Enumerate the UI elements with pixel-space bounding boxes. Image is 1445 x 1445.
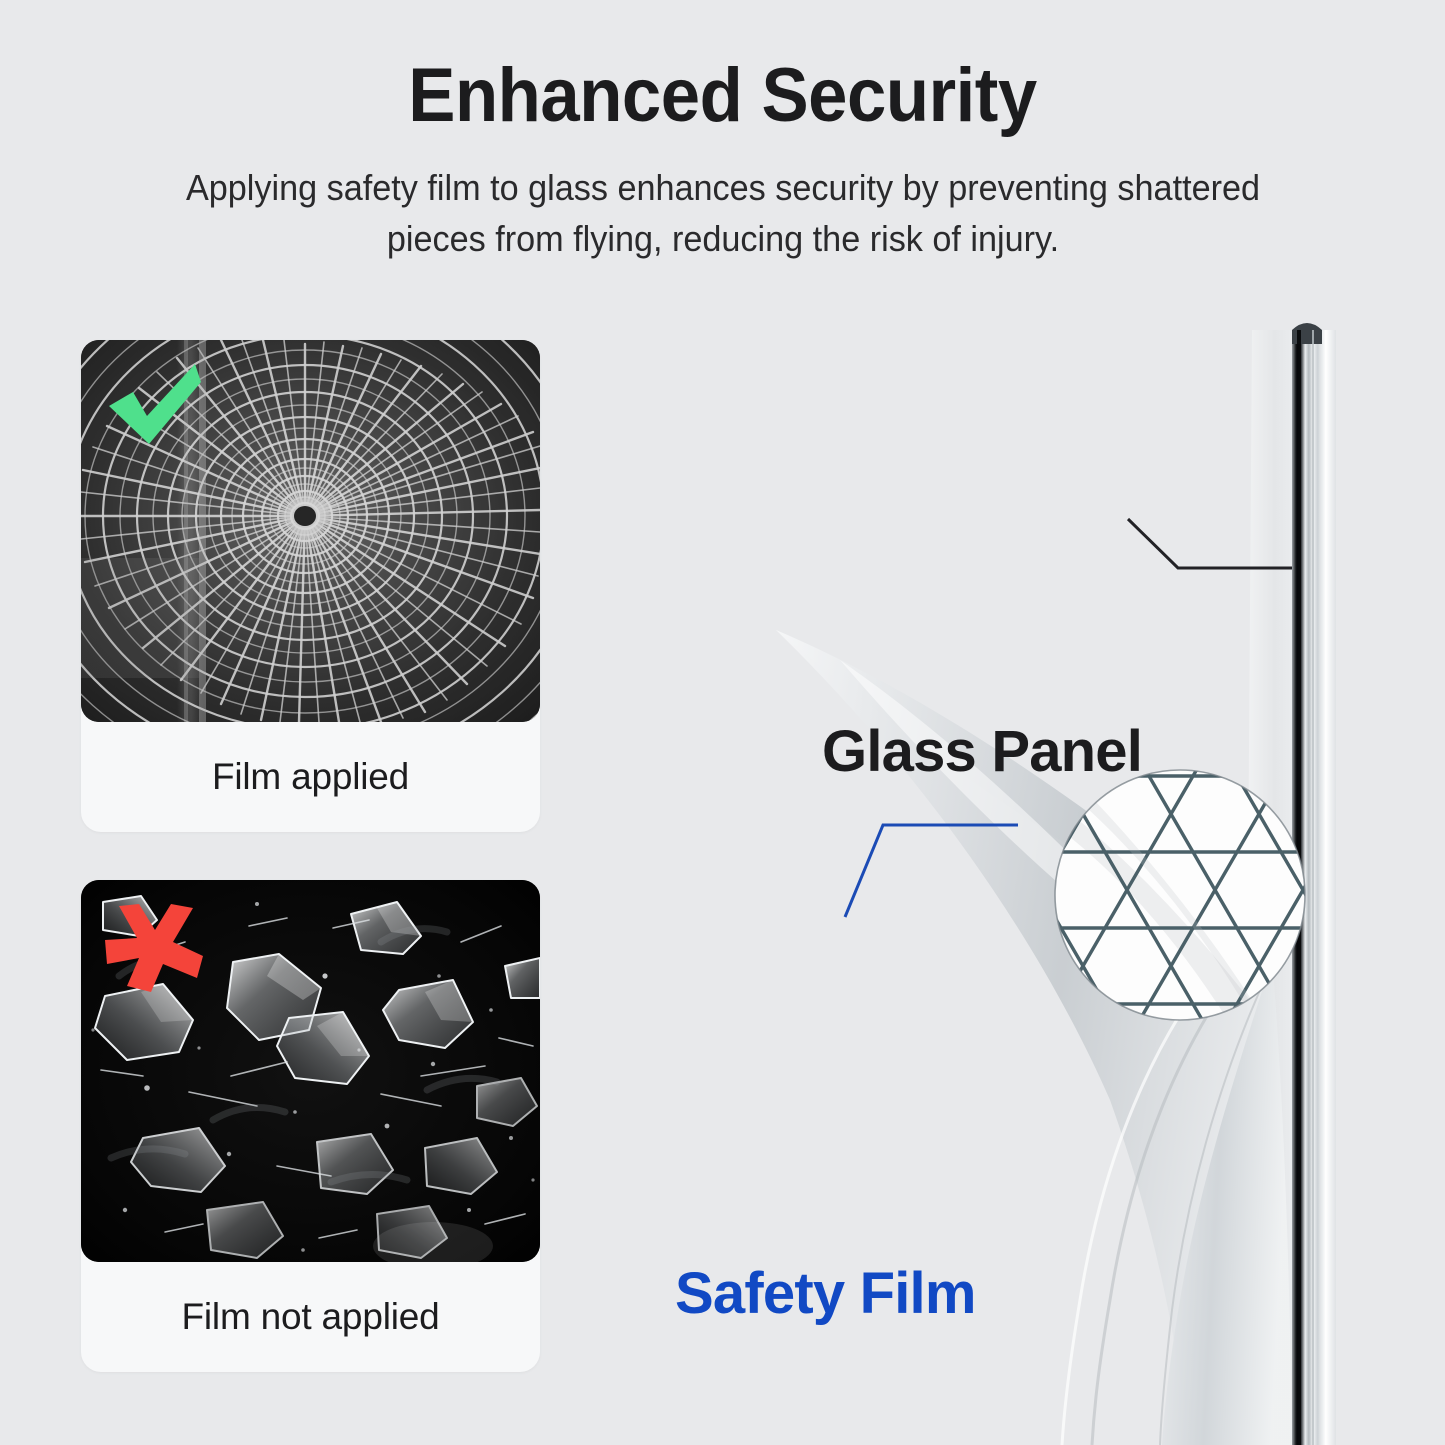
glass-panel-illustration: Glass Panel Safety Film [640,300,1445,1445]
comparison-card-film-not-applied[interactable]: Film not applied [81,880,540,1372]
page-subtitle: Applying safety film to glass enhances s… [153,162,1293,264]
comparison-card-film-applied[interactable]: Film applied [81,340,540,832]
card-caption: Film not applied [81,1262,540,1372]
cracked-glass-with-film-photo [81,340,540,722]
red-cross-icon [103,902,207,994]
page-title: Enhanced Security [51,58,1395,134]
card-caption: Film applied [81,722,540,832]
glass-panel-label: Glass Panel [822,723,1142,781]
header: Enhanced Security Applying safety film t… [0,0,1445,264]
comparison-card-list: Film applied [81,340,551,1420]
green-check-icon [103,362,207,454]
flying-glass-shards-photo [81,880,540,1262]
safety-film-label: Safety Film [675,1265,976,1323]
